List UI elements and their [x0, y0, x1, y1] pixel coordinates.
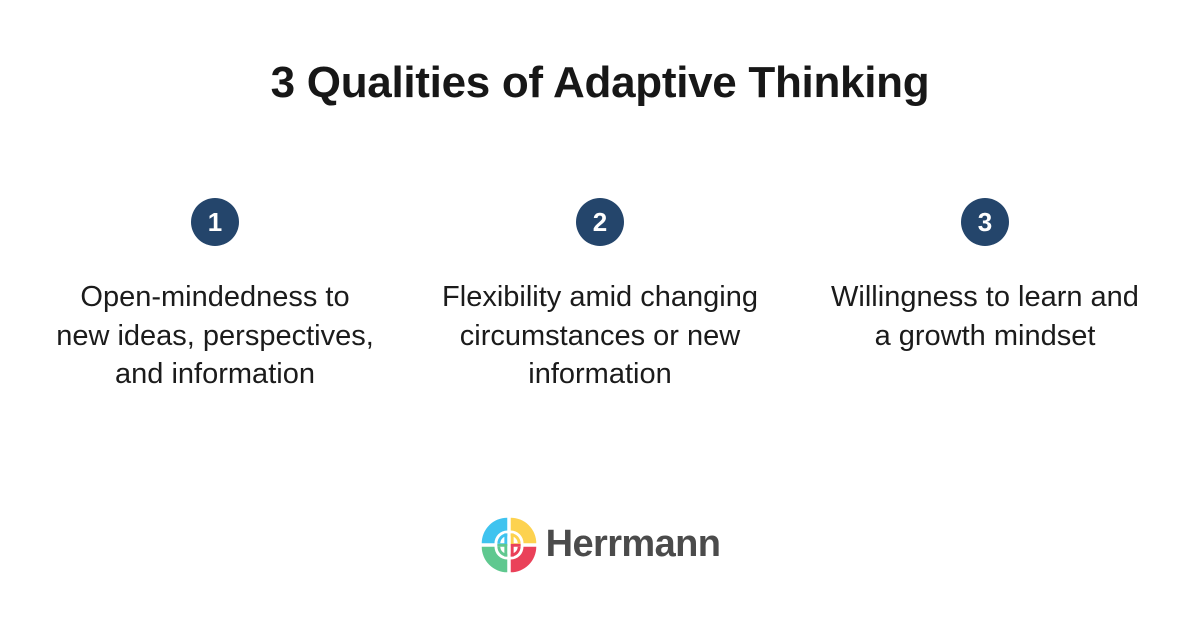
number-badge-1: 1 [191, 198, 239, 246]
quality-text-3: Willingness to learn and a growth mindse… [825, 278, 1145, 355]
quality-column-1: 1 Open-mindedness to new ideas, perspect… [45, 198, 385, 394]
page-title: 3 Qualities of Adaptive Thinking [271, 58, 930, 109]
slide-canvas: 3 Qualities of Adaptive Thinking 1 Open-… [0, 0, 1200, 627]
number-badge-3: 3 [961, 198, 1009, 246]
number-badge-2: 2 [576, 198, 624, 246]
quality-column-3: 3 Willingness to learn and a growth mind… [815, 198, 1155, 355]
herrmann-whole-brain-icon [480, 516, 538, 574]
quality-text-1: Open-mindedness to new ideas, perspectiv… [55, 278, 375, 394]
quality-text-2: Flexibility amid changing circumstances … [440, 278, 760, 394]
brand-wordmark: Herrmann [546, 525, 721, 566]
brand-logo: Herrmann [0, 516, 1200, 574]
qualities-columns: 1 Open-mindedness to new ideas, perspect… [45, 198, 1155, 394]
quality-column-2: 2 Flexibility amid changing circumstance… [430, 198, 770, 394]
